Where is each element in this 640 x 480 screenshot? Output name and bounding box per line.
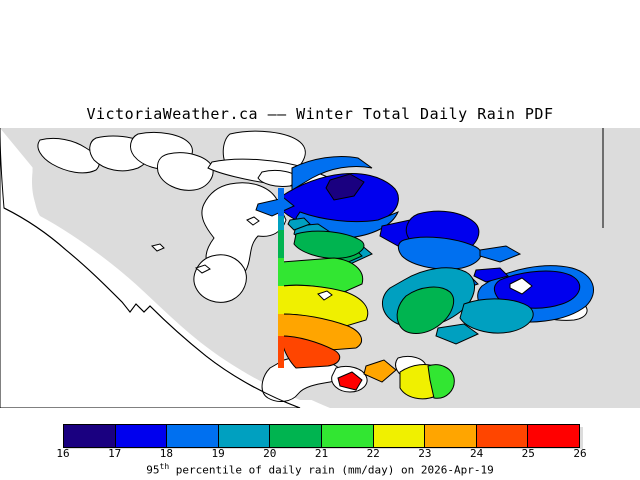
colorbar-tick-21: 21 [315, 447, 328, 460]
cut-edge-blue-strip [278, 188, 284, 216]
victoria-harbour-water [194, 255, 246, 303]
colorbar-tick-24: 24 [470, 447, 483, 460]
colorbar-tick-20: 20 [263, 447, 276, 460]
weather-map-page: VictoriaWeather.ca —— Winter Total Daily… [0, 0, 640, 480]
colorbar-bar[interactable] [63, 424, 580, 448]
map-canvas [0, 128, 640, 408]
colorbar: 1617181920212223242526 95th percentile o… [0, 424, 640, 480]
colorbar-tick-22: 22 [367, 447, 380, 460]
colorbar-tick-25: 25 [522, 447, 535, 460]
caption-superscript: th [160, 462, 170, 471]
colorbar-tick-16: 16 [56, 447, 69, 460]
cut-edge-orange-strip [278, 314, 284, 336]
colorbar-caption: 95th percentile of daily rain (mm/day) o… [0, 462, 640, 477]
colorbar-tick-labels: 1617181920212223242526 [0, 447, 640, 463]
page-title: VictoriaWeather.ca —— Winter Total Daily… [0, 105, 640, 123]
colorbar-tick-19: 19 [211, 447, 224, 460]
caption-prefix: 95 [146, 464, 159, 477]
cut-edge-orangered-strip [278, 336, 284, 368]
colorbar-cell-5[interactable] [322, 425, 374, 447]
colorbar-cell-3[interactable] [219, 425, 271, 447]
colorbar-tick-18: 18 [160, 447, 173, 460]
caption-rest: percentile of daily rain (mm/day) on 202… [169, 464, 494, 477]
colorbar-cell-7[interactable] [425, 425, 477, 447]
colorbar-cell-2[interactable] [167, 425, 219, 447]
cut-edge-lgreen-strip [278, 258, 284, 286]
colorbar-cell-0[interactable] [64, 425, 116, 447]
colorbar-tick-23: 23 [418, 447, 431, 460]
colorbar-cell-9[interactable] [528, 425, 579, 447]
colorbar-cell-8[interactable] [477, 425, 529, 447]
cut-edge-teal-strip [278, 216, 284, 230]
colorbar-cell-6[interactable] [374, 425, 426, 447]
colorbar-tick-26: 26 [573, 447, 586, 460]
colorbar-tick-17: 17 [108, 447, 121, 460]
colorbar-cell-1[interactable] [116, 425, 168, 447]
map-svg [0, 128, 640, 408]
cut-edge-yellow-strip [278, 286, 284, 314]
cut-edge-green-strip [278, 230, 284, 258]
colorbar-cell-4[interactable] [270, 425, 322, 447]
